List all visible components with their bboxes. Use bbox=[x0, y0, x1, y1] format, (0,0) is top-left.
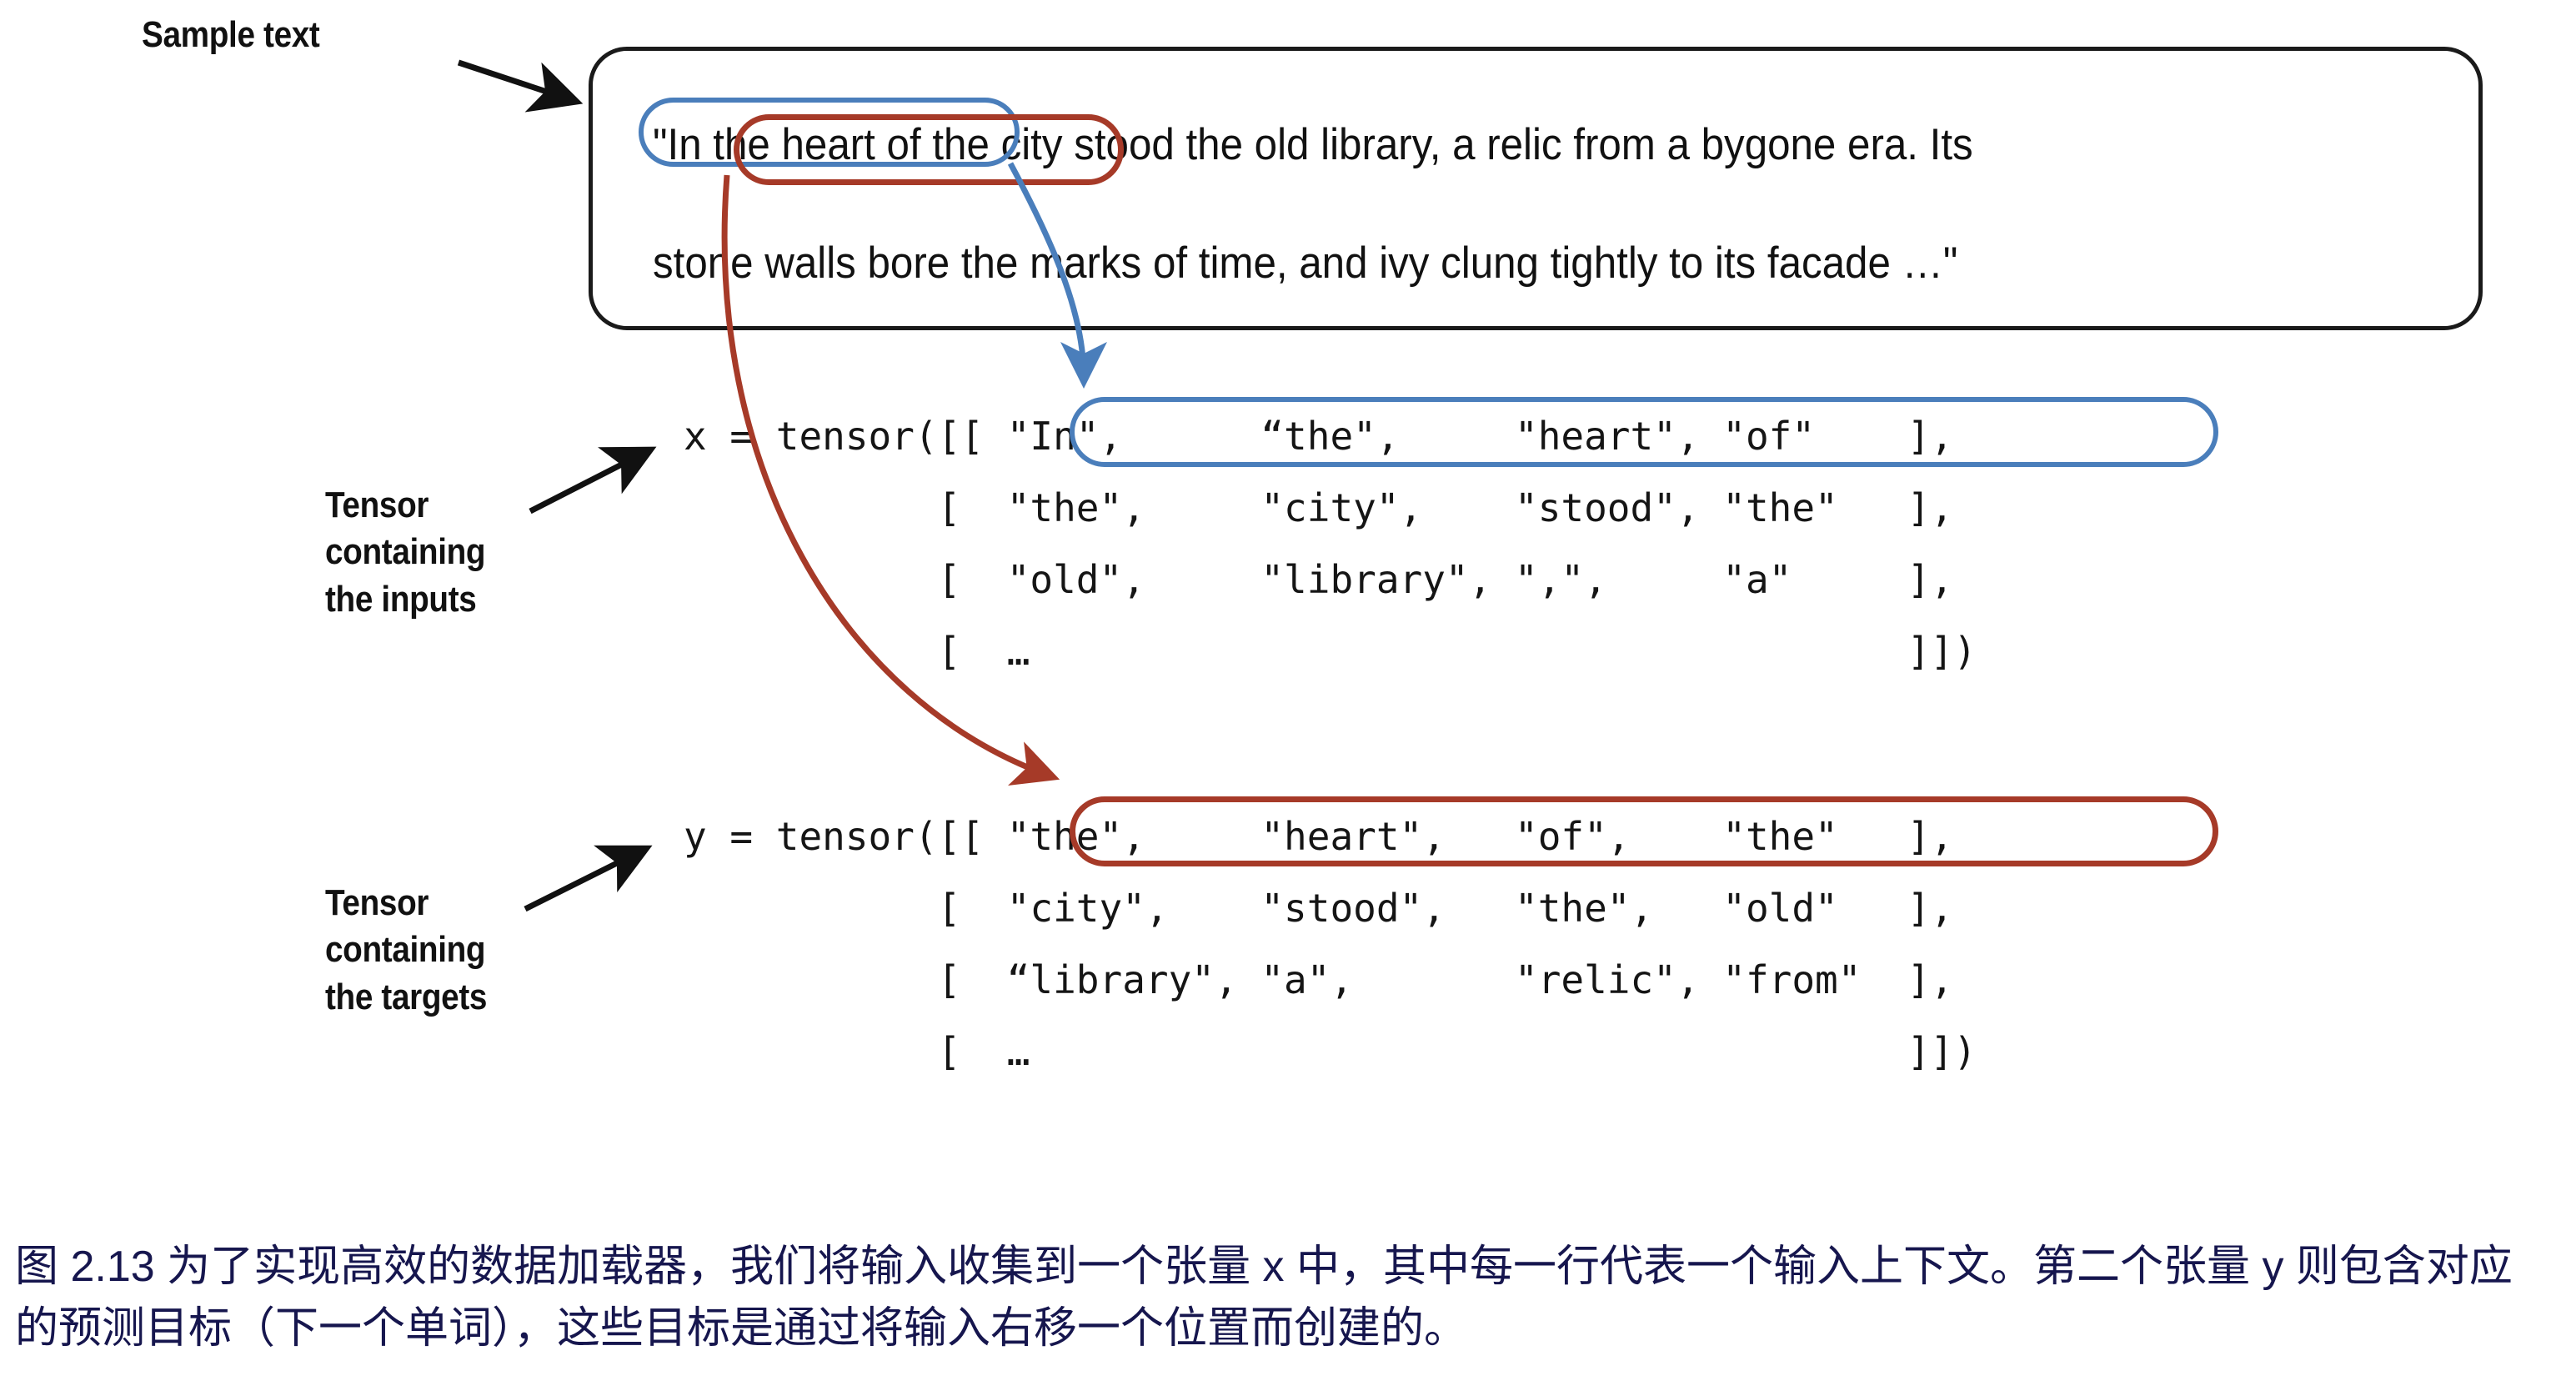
arrow-targets-label-to-y bbox=[525, 851, 642, 909]
sample-highlight-red bbox=[734, 114, 1124, 185]
tensor-x-row0-highlight bbox=[1070, 397, 2218, 467]
figure-caption: 图 2.13 为了实现高效的数据加载器，我们将输入收集到一个张量 x 中，其中每… bbox=[15, 1236, 2549, 1359]
tensor-inputs-label: Tensor containing the inputs bbox=[325, 482, 485, 623]
arrow-inputs-label-to-x bbox=[530, 452, 646, 511]
sample-text-box: "In the heart of the city stood the old … bbox=[589, 47, 2483, 330]
tensor-targets-label: Tensor containing the targets bbox=[325, 880, 487, 1021]
tensor-y-row0-highlight bbox=[1070, 796, 2218, 866]
arrow-sample-text-to-box bbox=[459, 63, 572, 100]
sample-text-line-2: stone walls bore the marks of time, and … bbox=[653, 238, 1957, 289]
sample-text-label: Sample text bbox=[142, 12, 319, 58]
